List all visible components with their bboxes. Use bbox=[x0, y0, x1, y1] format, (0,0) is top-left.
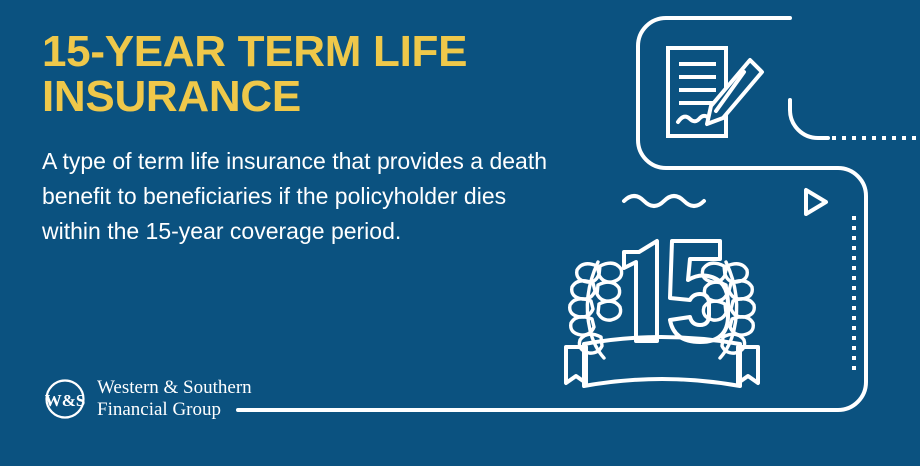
play-triangle-icon bbox=[806, 190, 826, 214]
gradient-accent-bar bbox=[0, 444, 920, 466]
description-text: A type of term life insurance that provi… bbox=[42, 144, 562, 249]
brand-name: Western & Southern Financial Group bbox=[97, 377, 252, 420]
ws-monogram-icon: W&S bbox=[44, 378, 86, 420]
pen-icon bbox=[707, 60, 762, 124]
page-title: 15-YEAR TERM LIFE INSURANCE bbox=[42, 30, 582, 120]
wavy-line-icon bbox=[624, 196, 704, 206]
badge-number-outline bbox=[624, 241, 728, 342]
infographic-banner: 15-YEAR TERM LIFE INSURANCE A type of te… bbox=[0, 0, 920, 466]
document-with-pen-icon bbox=[668, 48, 726, 136]
laurel-wreath-icon bbox=[570, 262, 755, 358]
badge-ribbon bbox=[566, 337, 758, 386]
dotted-feed-arc bbox=[790, 100, 828, 138]
svg-text:W&S: W&S bbox=[45, 391, 86, 410]
text-column: 15-YEAR TERM LIFE INSURANCE A type of te… bbox=[42, 30, 582, 249]
brand-logo: W&S Western & Southern Financial Group bbox=[44, 377, 252, 420]
